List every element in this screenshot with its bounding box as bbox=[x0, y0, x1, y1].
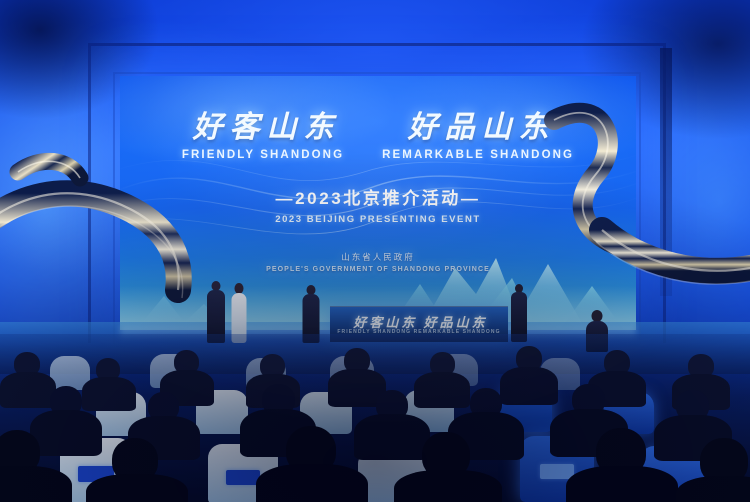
audience-area bbox=[0, 334, 750, 502]
audience-shoulders bbox=[566, 466, 678, 502]
audience-shoulders bbox=[256, 464, 368, 502]
event-stage-photograph: 好客山东 FRIENDLY SHANDONG 好品山东 REMARKABLE S… bbox=[0, 0, 750, 502]
ribbon-sculpture-right bbox=[526, 52, 750, 337]
audience-people-front bbox=[0, 334, 750, 502]
audience-shoulders bbox=[676, 476, 750, 502]
audience-shoulders bbox=[394, 470, 502, 502]
audience-shoulders bbox=[0, 466, 72, 502]
audience-shoulders bbox=[86, 474, 188, 502]
ribbon-sculpture-left bbox=[0, 60, 212, 330]
